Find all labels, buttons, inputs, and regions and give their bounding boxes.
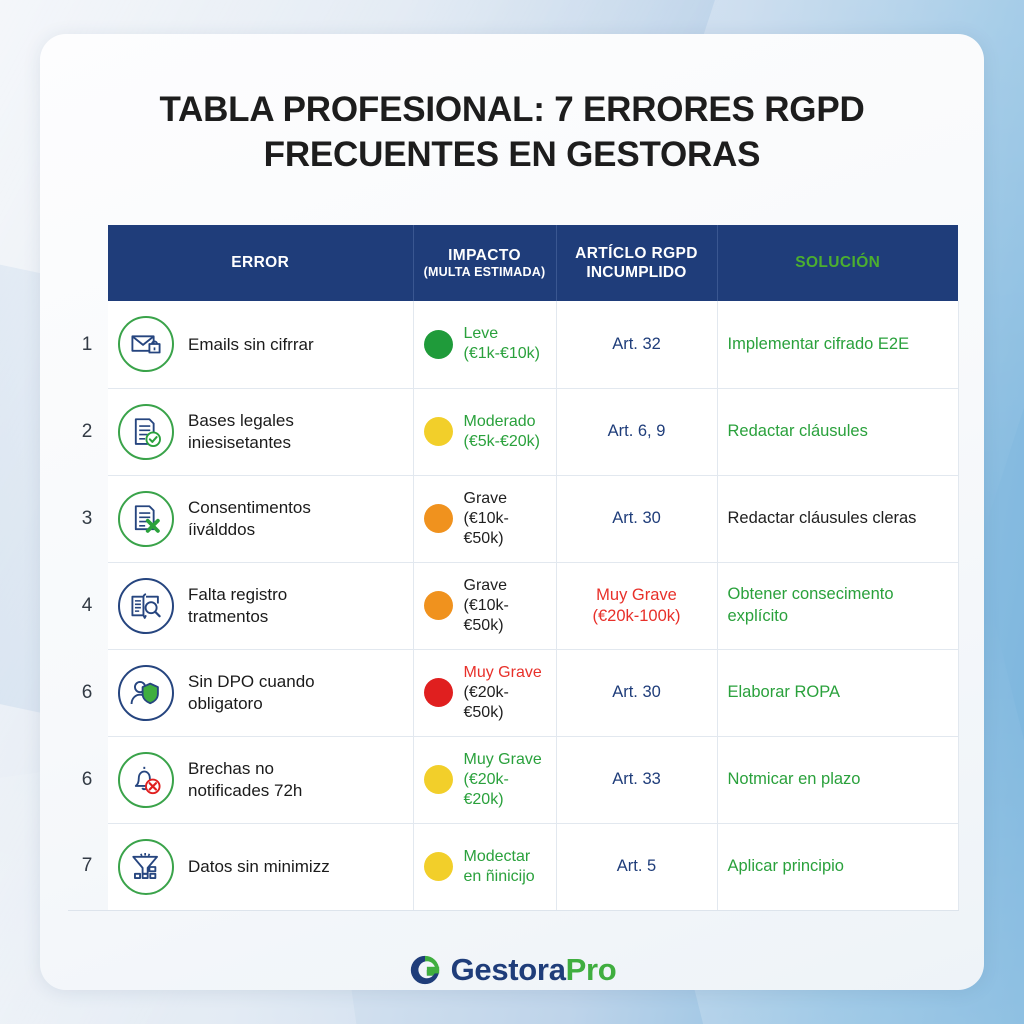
solucion-cell[interactable]: Notmicar en plazo: [717, 736, 958, 823]
impact-range: (€10k-€50k): [464, 596, 546, 636]
page-title: TABLA PROFESIONAL: 7 ERRORES RGPD FRECUE…: [40, 34, 984, 178]
row-number: 6: [68, 649, 108, 736]
articulo-cell[interactable]: Art. 5: [556, 823, 717, 910]
rgpd-errors-table: ERROR IMPACTO (MULTA ESTIMADA) ARTÍCLO R…: [68, 225, 959, 911]
solucion-value: Redactar cláusules: [728, 421, 948, 442]
table-row[interactable]: 6 Sin DPO cuandoobligatoro Muy Grave (€2…: [68, 649, 958, 736]
error-label: Consentimentosíiválddos: [188, 497, 311, 540]
table-row[interactable]: 7 Datos sin minimizz Modectar en ñinicij…: [68, 823, 958, 910]
document-check-icon: [118, 404, 174, 460]
impact-severity-dot: [424, 330, 453, 359]
error-label: Datos sin minimizz: [188, 856, 330, 877]
error-label: Brechas nonotificades 72h: [188, 758, 302, 801]
rgpd-errors-table-wrapper: ERROR IMPACTO (MULTA ESTIMADA) ARTÍCLO R…: [68, 225, 958, 911]
articulo-value: Muy Grave: [596, 586, 677, 604]
impact-text: Grave (€10k-€50k): [464, 489, 546, 549]
error-label-line-1: Datos sin minimizz: [188, 856, 330, 877]
error-cell[interactable]: Brechas nonotificades 72h: [108, 736, 413, 823]
impacto-cell[interactable]: Grave (€10k-€50k): [413, 475, 556, 562]
impact-range: en ñinicijo: [464, 867, 535, 887]
table-row[interactable]: 2 Bases legalesiniesisetantes Moderado (…: [68, 388, 958, 475]
solucion-cell[interactable]: Implementar cifrado E2E: [717, 301, 958, 388]
impact-severity-dot: [424, 417, 453, 446]
articulo-cell[interactable]: Art. 33: [556, 736, 717, 823]
articulo-value: Art. 30: [612, 683, 661, 701]
error-cell[interactable]: Datos sin minimizz: [108, 823, 413, 910]
document-x-icon: [118, 491, 174, 547]
impact-text: Modectar en ñinicijo: [464, 847, 535, 887]
table-row[interactable]: 3 Consentimentosíiválddos Grave (€10k-€5…: [68, 475, 958, 562]
solucion-cell[interactable]: Redactar cláusules: [717, 388, 958, 475]
error-cell[interactable]: Consentimentosíiválddos: [108, 475, 413, 562]
book-search-icon: [118, 578, 174, 634]
column-header-impacto-main: IMPACTO: [448, 247, 521, 264]
impact-level: Moderado: [464, 412, 540, 432]
impacto-cell[interactable]: Muy Grave (€20k-€20k): [413, 736, 556, 823]
error-label: Bases legalesiniesisetantes: [188, 410, 294, 453]
articulo-cell[interactable]: Art. 30: [556, 475, 717, 562]
articulo-cell[interactable]: Art. 32: [556, 301, 717, 388]
error-label-line-2: notificades 72h: [188, 780, 302, 801]
infographic-card: TABLA PROFESIONAL: 7 ERRORES RGPD FRECUE…: [40, 34, 984, 990]
articulo-sub-value: (€20k-100k): [567, 606, 707, 627]
impact-severity-dot: [424, 678, 453, 707]
table-header: ERROR IMPACTO (MULTA ESTIMADA) ARTÍCLO R…: [68, 225, 958, 301]
impact-level: Leve: [464, 324, 540, 344]
impact-severity-dot: [424, 591, 453, 620]
error-label-line-2: íiválddos: [188, 519, 311, 540]
bell-x-icon: [118, 752, 174, 808]
page-title-line-2: FRECUENTES EN GESTORAS: [100, 133, 924, 178]
impact-text: Muy Grave (€20k-€50k): [464, 663, 546, 723]
email-lock-icon: [118, 316, 174, 372]
user-shield-icon: [118, 665, 174, 721]
row-number-header: [68, 225, 108, 301]
error-label-line-1: Bases legales: [188, 410, 294, 431]
impact-level: Muy Grave: [464, 663, 546, 683]
error-label: Sin DPO cuandoobligatoro: [188, 671, 315, 714]
error-label-line-1: Brechas no: [188, 758, 302, 779]
impact-text: Leve (€1k-€10k): [464, 324, 540, 364]
table-row[interactable]: 4 Falta registrotratmentos Grave (€10k-€…: [68, 562, 958, 649]
error-label: Emails sin cifrrar: [188, 334, 314, 355]
impacto-cell[interactable]: Modectar en ñinicijo: [413, 823, 556, 910]
error-label-line-1: Falta registro: [188, 584, 287, 605]
column-header-articulo-sub: INCUMPLIDO: [563, 263, 711, 282]
solucion-value: Notmicar en plazo: [728, 769, 948, 790]
column-header-articulo-main: ARTÍCLO RGPD: [575, 245, 698, 262]
row-number: 2: [68, 388, 108, 475]
funnel-filter-icon: [118, 839, 174, 895]
articulo-value: Art. 5: [617, 857, 656, 875]
impact-text: Grave (€10k-€50k): [464, 576, 546, 636]
impact-text: Moderado (€5k-€20k): [464, 412, 540, 452]
row-number: 6: [68, 736, 108, 823]
brand-footer: GestoraPro: [40, 952, 984, 988]
solucion-value: Aplicar principio: [728, 856, 948, 877]
error-label-line-1: Emails sin cifrrar: [188, 334, 314, 355]
impact-level: Muy Grave: [464, 750, 546, 770]
impact-text: Muy Grave (€20k-€20k): [464, 750, 546, 810]
impact-range: (€5k-€20k): [464, 432, 540, 452]
solucion-cell[interactable]: Aplicar principio: [717, 823, 958, 910]
solucion-value: Implementar cifrado E2E: [728, 334, 948, 355]
error-label-line-1: Sin DPO cuando: [188, 671, 315, 692]
column-header-solucion: SOLUCIÓN: [717, 225, 958, 301]
row-number: 1: [68, 301, 108, 388]
solucion-cell[interactable]: Redactar cláusules cleras: [717, 475, 958, 562]
articulo-cell[interactable]: Art. 6, 9: [556, 388, 717, 475]
error-cell[interactable]: Bases legalesiniesisetantes: [108, 388, 413, 475]
table-header-row: ERROR IMPACTO (MULTA ESTIMADA) ARTÍCLO R…: [68, 225, 958, 301]
column-header-error: ERROR: [108, 225, 413, 301]
row-number: 3: [68, 475, 108, 562]
impact-range: (€10k-€50k): [464, 509, 546, 549]
solucion-value: Obtener consecimento explícito: [728, 584, 948, 627]
impacto-cell[interactable]: Leve (€1k-€10k): [413, 301, 556, 388]
brand-name: GestoraPro: [451, 952, 617, 988]
error-cell[interactable]: Emails sin cifrrar: [108, 301, 413, 388]
impact-level: Grave: [464, 576, 546, 596]
table-body: 1 Emails sin cifrrar Leve (€1k-€10k): [68, 301, 958, 910]
error-label: Falta registrotratmentos: [188, 584, 287, 627]
solucion-cell[interactable]: Elaborar ROPA: [717, 649, 958, 736]
error-label-line-2: iniesisetantes: [188, 432, 294, 453]
column-header-articulo: ARTÍCLO RGPD INCUMPLIDO: [556, 225, 717, 301]
impact-range: (€20k-€50k): [464, 683, 546, 723]
row-number: 4: [68, 562, 108, 649]
table-row[interactable]: 6 Brechas nonotificades 72h Muy Grave (€…: [68, 736, 958, 823]
error-cell[interactable]: Falta registrotratmentos: [108, 562, 413, 649]
solucion-value: Elaborar ROPA: [728, 682, 948, 703]
articulo-value: Art. 6, 9: [608, 422, 666, 440]
articulo-cell[interactable]: Art. 30: [556, 649, 717, 736]
page-title-line-1: TABLA PROFESIONAL: 7 ERRORES RGPD: [100, 88, 924, 133]
brand-name-part-1: Gestora: [451, 952, 566, 987]
error-label-line-2: obligatoro: [188, 693, 315, 714]
articulo-cell[interactable]: Muy Grave(€20k-100k): [556, 562, 717, 649]
impact-range: (€1k-€10k): [464, 344, 540, 364]
articulo-value: Art. 33: [612, 770, 661, 788]
impacto-cell[interactable]: Muy Grave (€20k-€50k): [413, 649, 556, 736]
error-label-line-2: tratmentos: [188, 606, 287, 627]
gestorapro-g-logo-icon: [408, 953, 442, 987]
column-header-impacto-sub: (MULTA ESTIMADA): [420, 265, 550, 281]
row-number: 7: [68, 823, 108, 910]
error-label-line-1: Consentimentos: [188, 497, 311, 518]
impact-level: Grave: [464, 489, 546, 509]
articulo-value: Art. 32: [612, 335, 661, 353]
impact-range: (€20k-€20k): [464, 770, 546, 810]
articulo-value: Art. 30: [612, 509, 661, 527]
impact-severity-dot: [424, 765, 453, 794]
impact-severity-dot: [424, 852, 453, 881]
table-row[interactable]: 1 Emails sin cifrrar Leve (€1k-€10k): [68, 301, 958, 388]
impacto-cell[interactable]: Moderado (€5k-€20k): [413, 388, 556, 475]
error-cell[interactable]: Sin DPO cuandoobligatoro: [108, 649, 413, 736]
impact-level: Modectar: [464, 847, 535, 867]
solucion-cell[interactable]: Obtener consecimento explícito: [717, 562, 958, 649]
impacto-cell[interactable]: Grave (€10k-€50k): [413, 562, 556, 649]
solucion-value: Redactar cláusules cleras: [728, 508, 948, 529]
brand-name-part-2: Pro: [566, 952, 617, 987]
column-header-impacto: IMPACTO (MULTA ESTIMADA): [413, 225, 556, 301]
impact-severity-dot: [424, 504, 453, 533]
